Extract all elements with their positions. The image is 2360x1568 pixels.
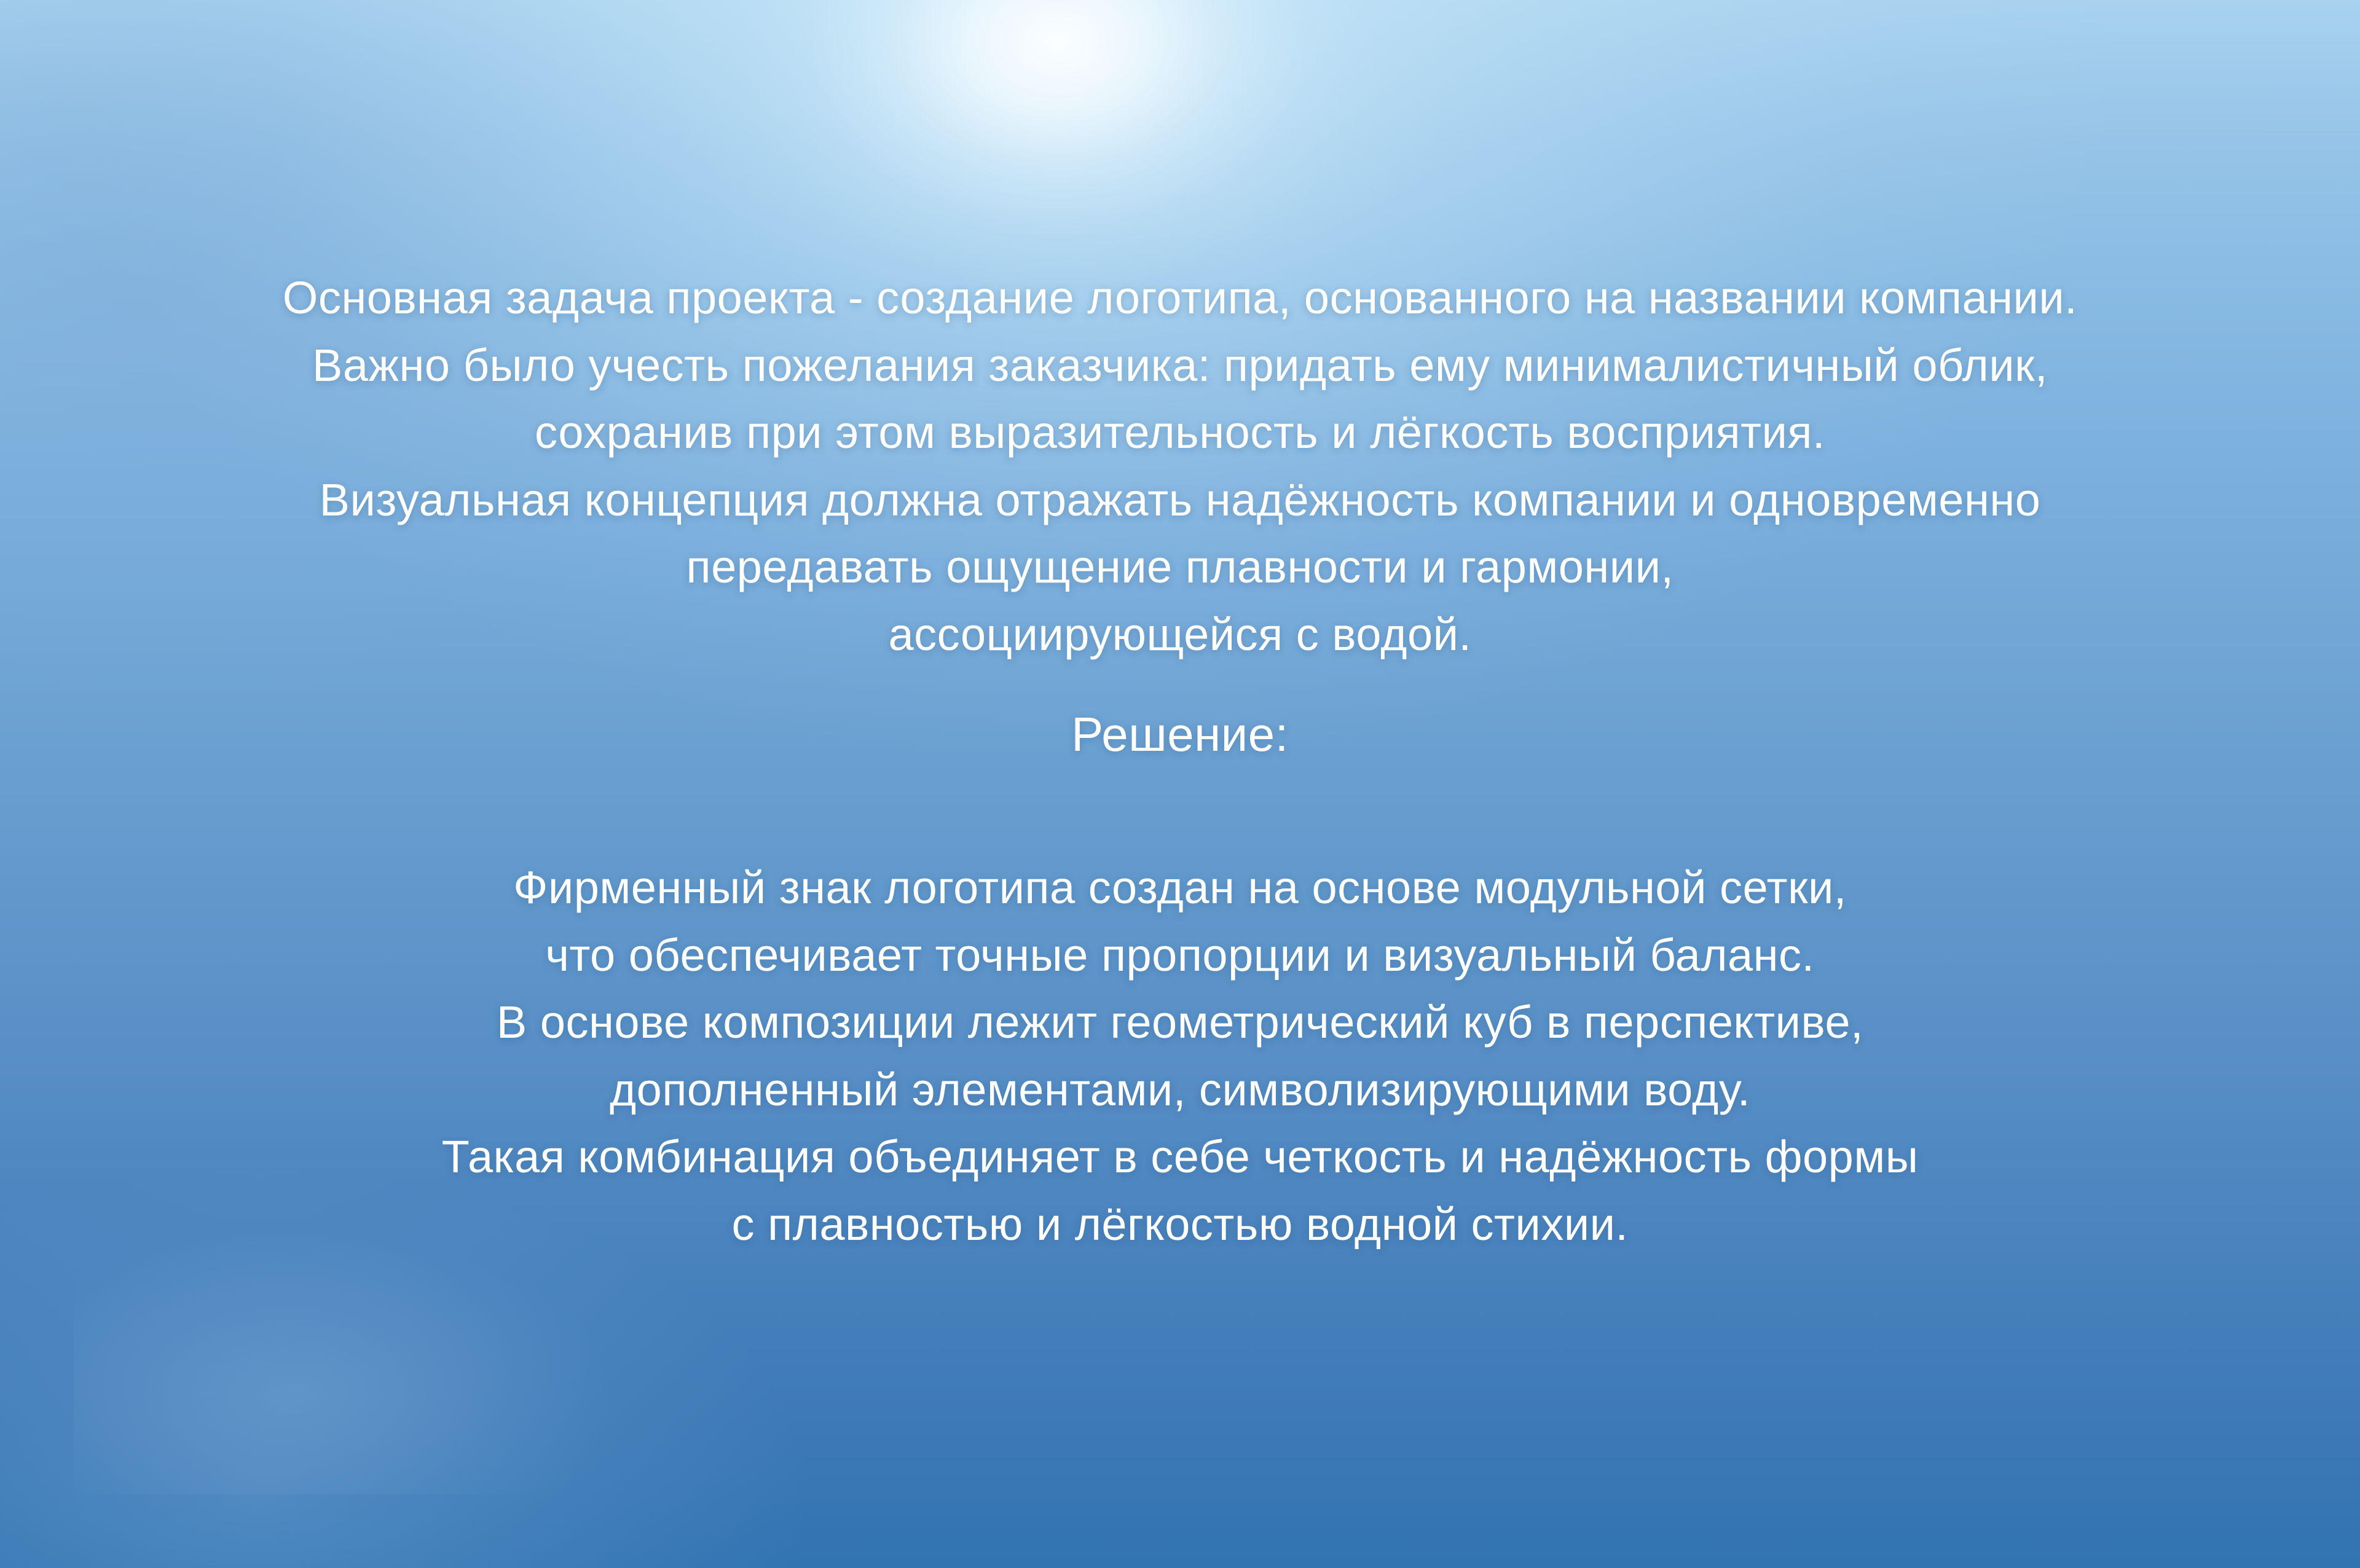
intro-line-4: Визуальная концепция должна отражать над… [104,466,2256,534]
solution-line-1: Фирменный знак логотипа создан на основе… [104,854,2256,922]
intro-line-5: передавать ощущение плавности и гармонии… [104,533,2256,601]
intro-line-3: сохранив при этом выразительность и лёгк… [104,399,2256,466]
intro-paragraph: Основная задача проекта - создание логот… [104,264,2256,668]
solution-line-4: дополненный элементами, символизирующими… [104,1056,2256,1124]
solution-line-6: с плавностью и лёгкостью водной стихии. [104,1191,2256,1258]
solution-paragraph: Фирменный знак логотипа создан на основе… [104,854,2256,1258]
intro-line-1: Основная задача проекта - создание логот… [104,264,2256,332]
intro-line-2: Важно было учесть пожелания заказчика: п… [104,332,2256,399]
slide-content: Основная задача проекта - создание логот… [0,0,2360,1568]
solution-line-3: В основе композиции лежит геометрический… [104,989,2256,1056]
solution-heading-text: Решение: [104,704,2256,766]
solution-line-2: что обеспечивает точные пропорции и визу… [104,922,2256,989]
intro-line-6: ассоциирующейся с водой. [104,601,2256,668]
solution-heading: Решение: [104,704,2256,766]
presentation-slide: Основная задача проекта - создание логот… [0,0,2360,1568]
solution-line-5: Такая комбинация объединяет в себе четко… [104,1123,2256,1191]
